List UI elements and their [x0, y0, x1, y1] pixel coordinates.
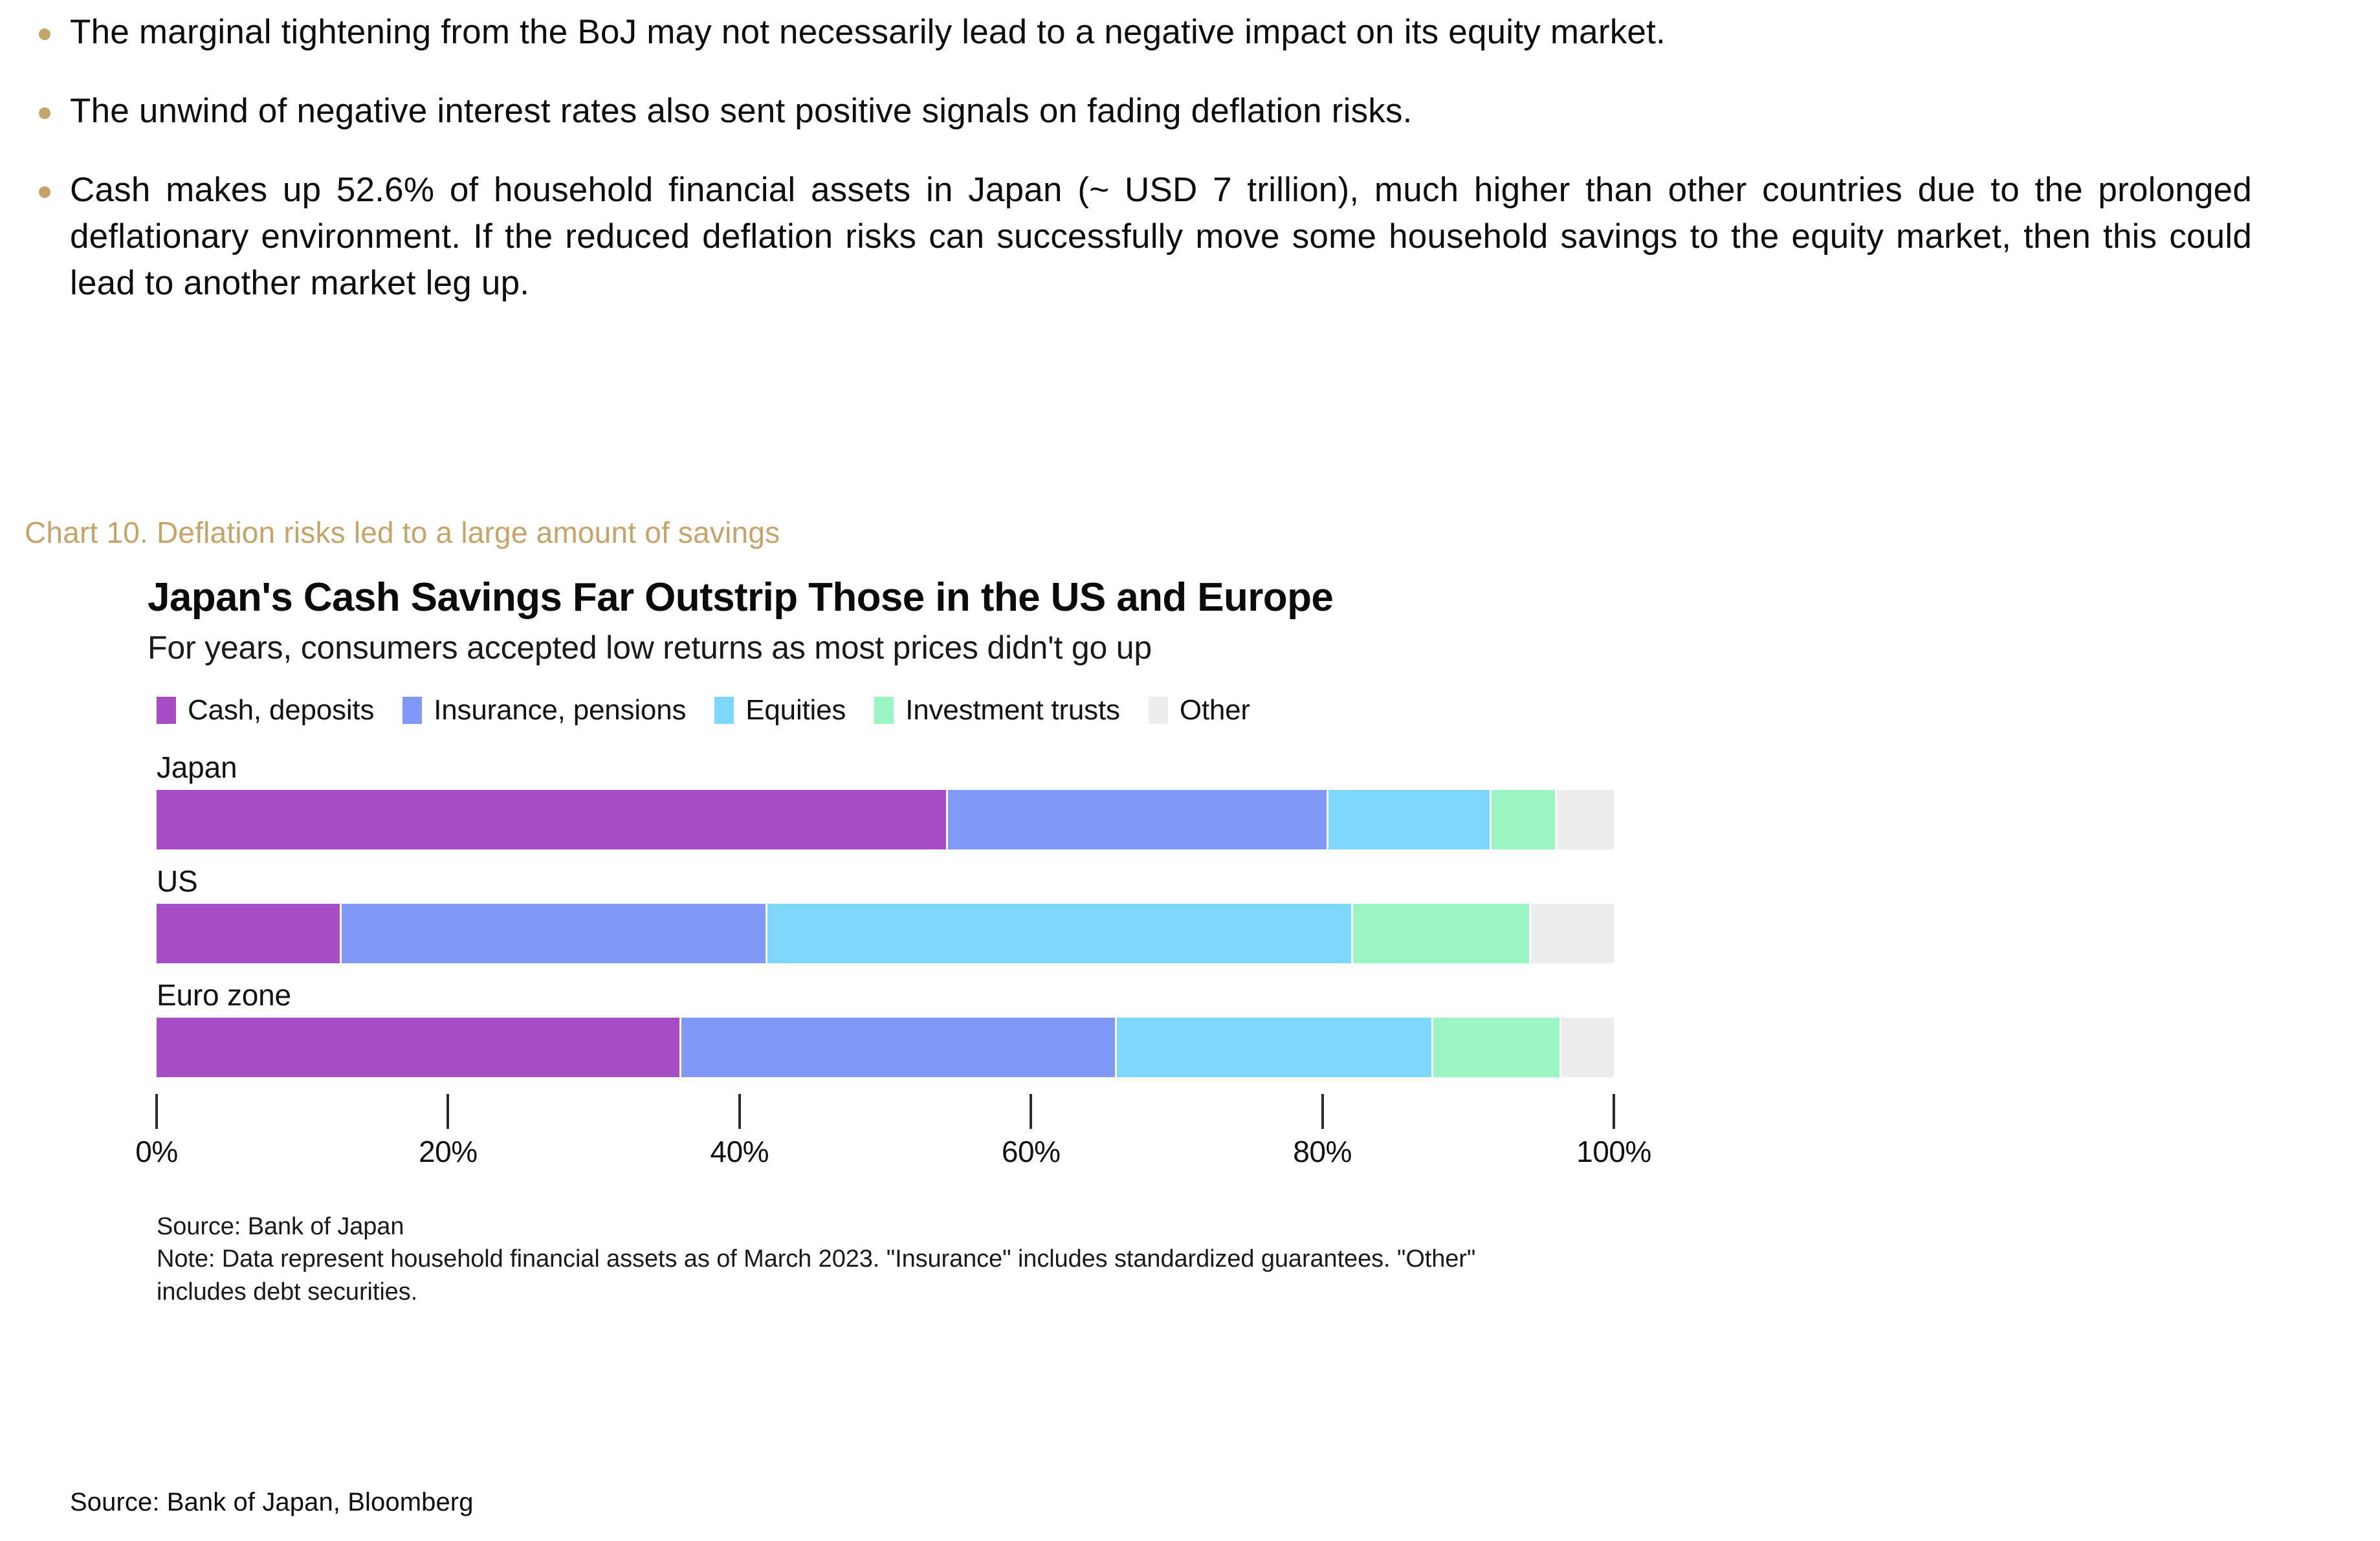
- bar-segment[interactable]: [1557, 790, 1614, 849]
- axis-tick-label: 60%: [1002, 1134, 1061, 1169]
- bar-segment[interactable]: [1561, 1018, 1614, 1077]
- bullet-list: The marginal tightening from the BoJ may…: [39, 9, 2252, 339]
- bar-track: [157, 790, 1614, 849]
- bar-category-label: Japan: [157, 750, 1614, 785]
- chart-subtitle: For years, consumers accepted low return…: [148, 630, 1765, 666]
- axis-tick-label: 20%: [419, 1134, 478, 1169]
- chart-x-axis: 0%20%40%60%80%100%: [157, 1094, 1614, 1191]
- legend-item[interactable]: Investment trusts: [874, 694, 1120, 727]
- bar-track: [157, 1018, 1614, 1077]
- bar-group: US: [157, 864, 1614, 963]
- list-item: The marginal tightening from the BoJ may…: [39, 9, 2252, 56]
- axis-tick-label: 40%: [711, 1134, 769, 1169]
- legend-swatch-icon: [714, 697, 734, 724]
- legend-swatch-icon: [874, 697, 894, 724]
- bar-segment[interactable]: [1353, 904, 1531, 963]
- legend-item[interactable]: Cash, deposits: [157, 694, 374, 727]
- bar-segment[interactable]: [1492, 790, 1557, 849]
- bar-segment[interactable]: [1433, 1018, 1561, 1077]
- legend-item-label: Other: [1180, 694, 1250, 727]
- chart-legend: Cash, depositsInsurance, pensionsEquitie…: [157, 694, 1765, 727]
- bar-segment[interactable]: [948, 790, 1328, 849]
- bar-segment[interactable]: [767, 904, 1353, 963]
- legend-swatch-icon: [157, 697, 176, 724]
- axis-tick: [1030, 1094, 1032, 1129]
- bullet-text: Cash makes up 52.6% of household financi…: [70, 167, 2252, 307]
- bar-segment[interactable]: [681, 1018, 1117, 1077]
- chart-source-note: Source: Bank of Japan: [157, 1210, 1567, 1243]
- bar-group: Euro zone: [157, 978, 1614, 1077]
- chart-container: Japan's Cash Savings Far Outstrip Those …: [148, 576, 1765, 1308]
- axis-tick: [1613, 1094, 1615, 1129]
- legend-item-label: Insurance, pensions: [434, 694, 686, 727]
- axis-tick-label: 80%: [1293, 1134, 1352, 1169]
- axis-tick: [738, 1094, 741, 1129]
- bullet-dot-icon: [39, 107, 50, 119]
- bar-segment[interactable]: [1531, 904, 1614, 963]
- bar-segment[interactable]: [342, 904, 767, 963]
- legend-item-label: Investment trusts: [905, 694, 1120, 727]
- axis-tick: [446, 1094, 449, 1129]
- axis-tick-label: 100%: [1576, 1134, 1651, 1169]
- chart-bars-area: JapanUSEuro zone: [157, 750, 1614, 1077]
- legend-item[interactable]: Insurance, pensions: [402, 694, 686, 727]
- chart-data-note: Note: Data represent household financial…: [157, 1243, 1567, 1307]
- legend-swatch-icon: [1149, 697, 1168, 724]
- bullet-text: The marginal tightening from the BoJ may…: [70, 9, 2252, 56]
- chart-notes: Source: Bank of Japan Note: Data represe…: [157, 1210, 1567, 1307]
- page-source: Source: Bank of Japan, Bloomberg: [70, 1488, 474, 1517]
- bar-category-label: US: [157, 864, 1614, 899]
- bar-segment[interactable]: [1328, 790, 1492, 849]
- bar-segment[interactable]: [1117, 1018, 1433, 1077]
- legend-item-label: Equities: [745, 694, 846, 727]
- chart-caption: Chart 10. Deflation risks led to a large…: [25, 515, 780, 550]
- chart-title: Japan's Cash Savings Far Outstrip Those …: [148, 576, 1765, 620]
- legend-item-label: Cash, deposits: [188, 694, 374, 727]
- bar-segment[interactable]: [157, 904, 342, 963]
- axis-tick: [1321, 1094, 1324, 1129]
- bullet-text: The unwind of negative interest rates al…: [70, 88, 2252, 135]
- legend-swatch-icon: [402, 697, 422, 724]
- list-item: The unwind of negative interest rates al…: [39, 88, 2252, 135]
- legend-item[interactable]: Other: [1149, 694, 1250, 727]
- bullet-dot-icon: [39, 186, 50, 198]
- axis-tick-label: 0%: [135, 1134, 177, 1169]
- bar-segment[interactable]: [157, 1018, 681, 1077]
- bar-category-label: Euro zone: [157, 978, 1614, 1012]
- axis-tick: [155, 1094, 158, 1129]
- bullet-dot-icon: [39, 28, 50, 40]
- legend-item[interactable]: Equities: [714, 694, 846, 727]
- list-item: Cash makes up 52.6% of household financi…: [39, 167, 2252, 307]
- bar-group: Japan: [157, 750, 1614, 849]
- bar-track: [157, 904, 1614, 963]
- bar-segment[interactable]: [157, 790, 948, 849]
